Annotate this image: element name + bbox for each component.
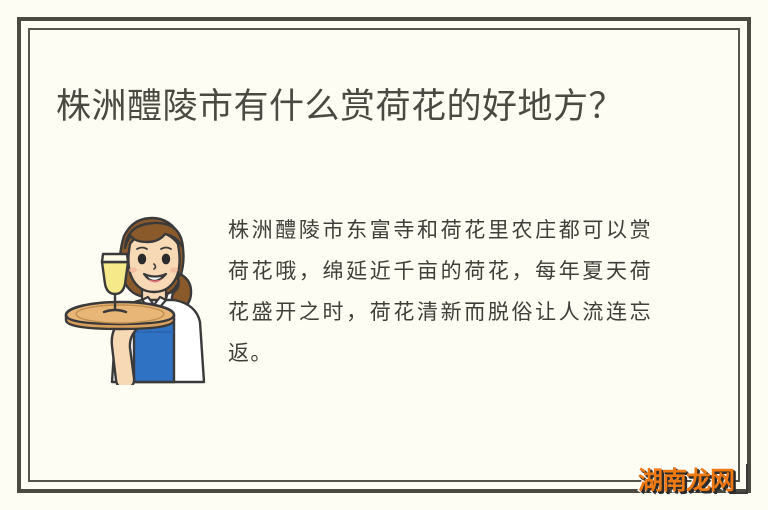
article-body-section: 株洲醴陵市东富寺和荷花里农庄都可以赏荷花哦，绵延近千亩的荷花，每年夏天荷花盛开之… <box>62 196 662 396</box>
article-card: 株洲醴陵市有什么赏荷花的好地方？ <box>0 0 768 510</box>
watermark-label: 湖南龙网 <box>638 466 734 496</box>
card-content: 株洲醴陵市有什么赏荷花的好地方？ <box>0 0 768 510</box>
article-body-text: 株洲醴陵市东富寺和荷花里农庄都可以赏荷花哦，绵延近千亩的荷花，每年夏天荷花盛开之… <box>228 210 652 374</box>
site-watermark: 湖南龙网 <box>634 464 754 498</box>
watermark-bracket-vertical <box>746 464 748 494</box>
waitress-with-tray-icon <box>62 200 212 385</box>
page-title: 株洲醴陵市有什么赏荷花的好地方？ <box>56 81 676 133</box>
